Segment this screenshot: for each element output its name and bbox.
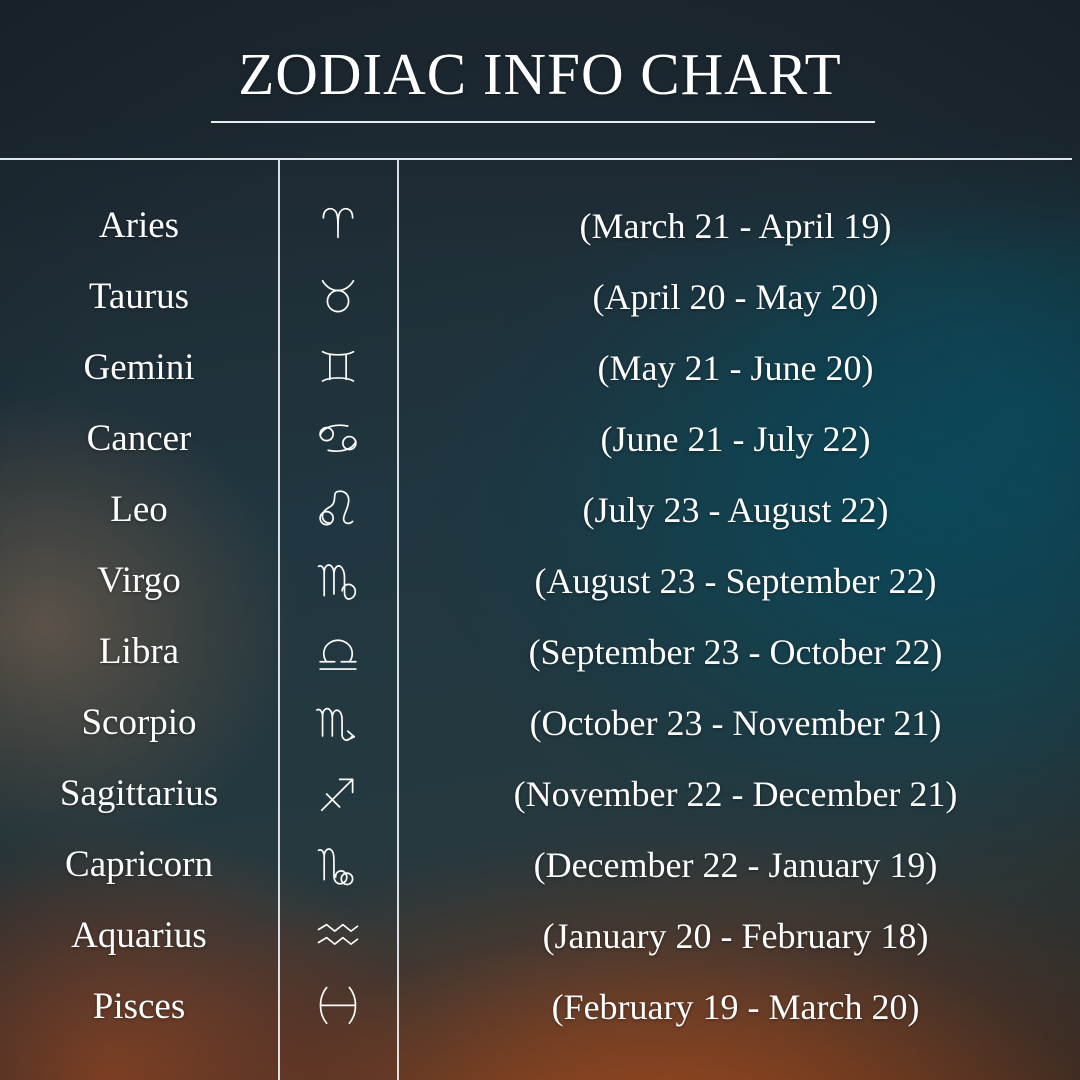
- table-row[interactable]: Aries(March 21 - April 19): [0, 190, 1080, 261]
- virgo-symbol: [278, 554, 397, 607]
- table-row[interactable]: Gemini(May 21 - June 20): [0, 332, 1080, 403]
- zodiac-date-range: (August 23 - September 22): [397, 563, 1080, 599]
- scorpio-symbol: [278, 696, 397, 749]
- zodiac-date-range: (February 19 - March 20): [397, 989, 1080, 1025]
- zodiac-date-range: (July 23 - August 22): [397, 492, 1080, 528]
- capricorn-symbol: [278, 838, 397, 891]
- zodiac-date-range: (May 21 - June 20): [397, 350, 1080, 386]
- zodiac-date-range: (September 23 - October 22): [397, 634, 1080, 670]
- zodiac-date-range: (December 22 - January 19): [397, 847, 1080, 883]
- zodiac-sign-name: Virgo: [0, 562, 278, 599]
- zodiac-info-chart: ZODIAC INFO CHART Aries(March 21 - April…: [0, 0, 1080, 1080]
- cancer-symbol: [278, 412, 397, 465]
- taurus-symbol: [278, 270, 397, 323]
- aquarius-symbol: [278, 909, 397, 962]
- table-row[interactable]: Sagittarius(November 22 - December 21): [0, 758, 1080, 829]
- zodiac-date-range: (January 20 - February 18): [397, 918, 1080, 954]
- page-title: ZODIAC INFO CHART: [0, 40, 1080, 109]
- libra-symbol: [278, 625, 397, 678]
- zodiac-sign-name: Pisces: [0, 988, 278, 1025]
- chart-header: ZODIAC INFO CHART: [0, 0, 1080, 159]
- zodiac-sign-name: Taurus: [0, 278, 278, 315]
- zodiac-sign-name: Cancer: [0, 420, 278, 457]
- zodiac-date-range: (June 21 - July 22): [397, 421, 1080, 457]
- zodiac-sign-name: Libra: [0, 633, 278, 670]
- pisces-symbol: [278, 980, 397, 1033]
- table-row[interactable]: Virgo(August 23 - September 22): [0, 545, 1080, 616]
- table-row[interactable]: Capricorn(December 22 - January 19): [0, 829, 1080, 900]
- sagittarius-symbol: [278, 767, 397, 820]
- title-underline-rule: [211, 121, 875, 123]
- zodiac-date-range: (April 20 - May 20): [397, 279, 1080, 315]
- table-row[interactable]: Aquarius(January 20 - February 18): [0, 900, 1080, 971]
- zodiac-date-range: (November 22 - December 21): [397, 776, 1080, 812]
- zodiac-table: Aries(March 21 - April 19)Taurus(April 2…: [0, 160, 1080, 1080]
- table-row[interactable]: Scorpio(October 23 - November 21): [0, 687, 1080, 758]
- zodiac-sign-name: Sagittarius: [0, 775, 278, 812]
- zodiac-sign-name: Aquarius: [0, 917, 278, 954]
- table-row[interactable]: Leo(July 23 - August 22): [0, 474, 1080, 545]
- table-row[interactable]: Taurus(April 20 - May 20): [0, 261, 1080, 332]
- gemini-symbol: [278, 341, 397, 394]
- aries-symbol: [278, 199, 397, 252]
- zodiac-sign-name: Gemini: [0, 349, 278, 386]
- zodiac-date-range: (October 23 - November 21): [397, 705, 1080, 741]
- zodiac-sign-name: Leo: [0, 491, 278, 528]
- zodiac-sign-name: Capricorn: [0, 846, 278, 883]
- zodiac-sign-name: Aries: [0, 207, 278, 244]
- leo-symbol: [278, 483, 397, 536]
- table-row[interactable]: Libra(September 23 - October 22): [0, 616, 1080, 687]
- table-row[interactable]: Pisces(February 19 - March 20): [0, 971, 1080, 1042]
- table-row[interactable]: Cancer(June 21 - July 22): [0, 403, 1080, 474]
- zodiac-date-range: (March 21 - April 19): [397, 208, 1080, 244]
- zodiac-sign-name: Scorpio: [0, 704, 278, 741]
